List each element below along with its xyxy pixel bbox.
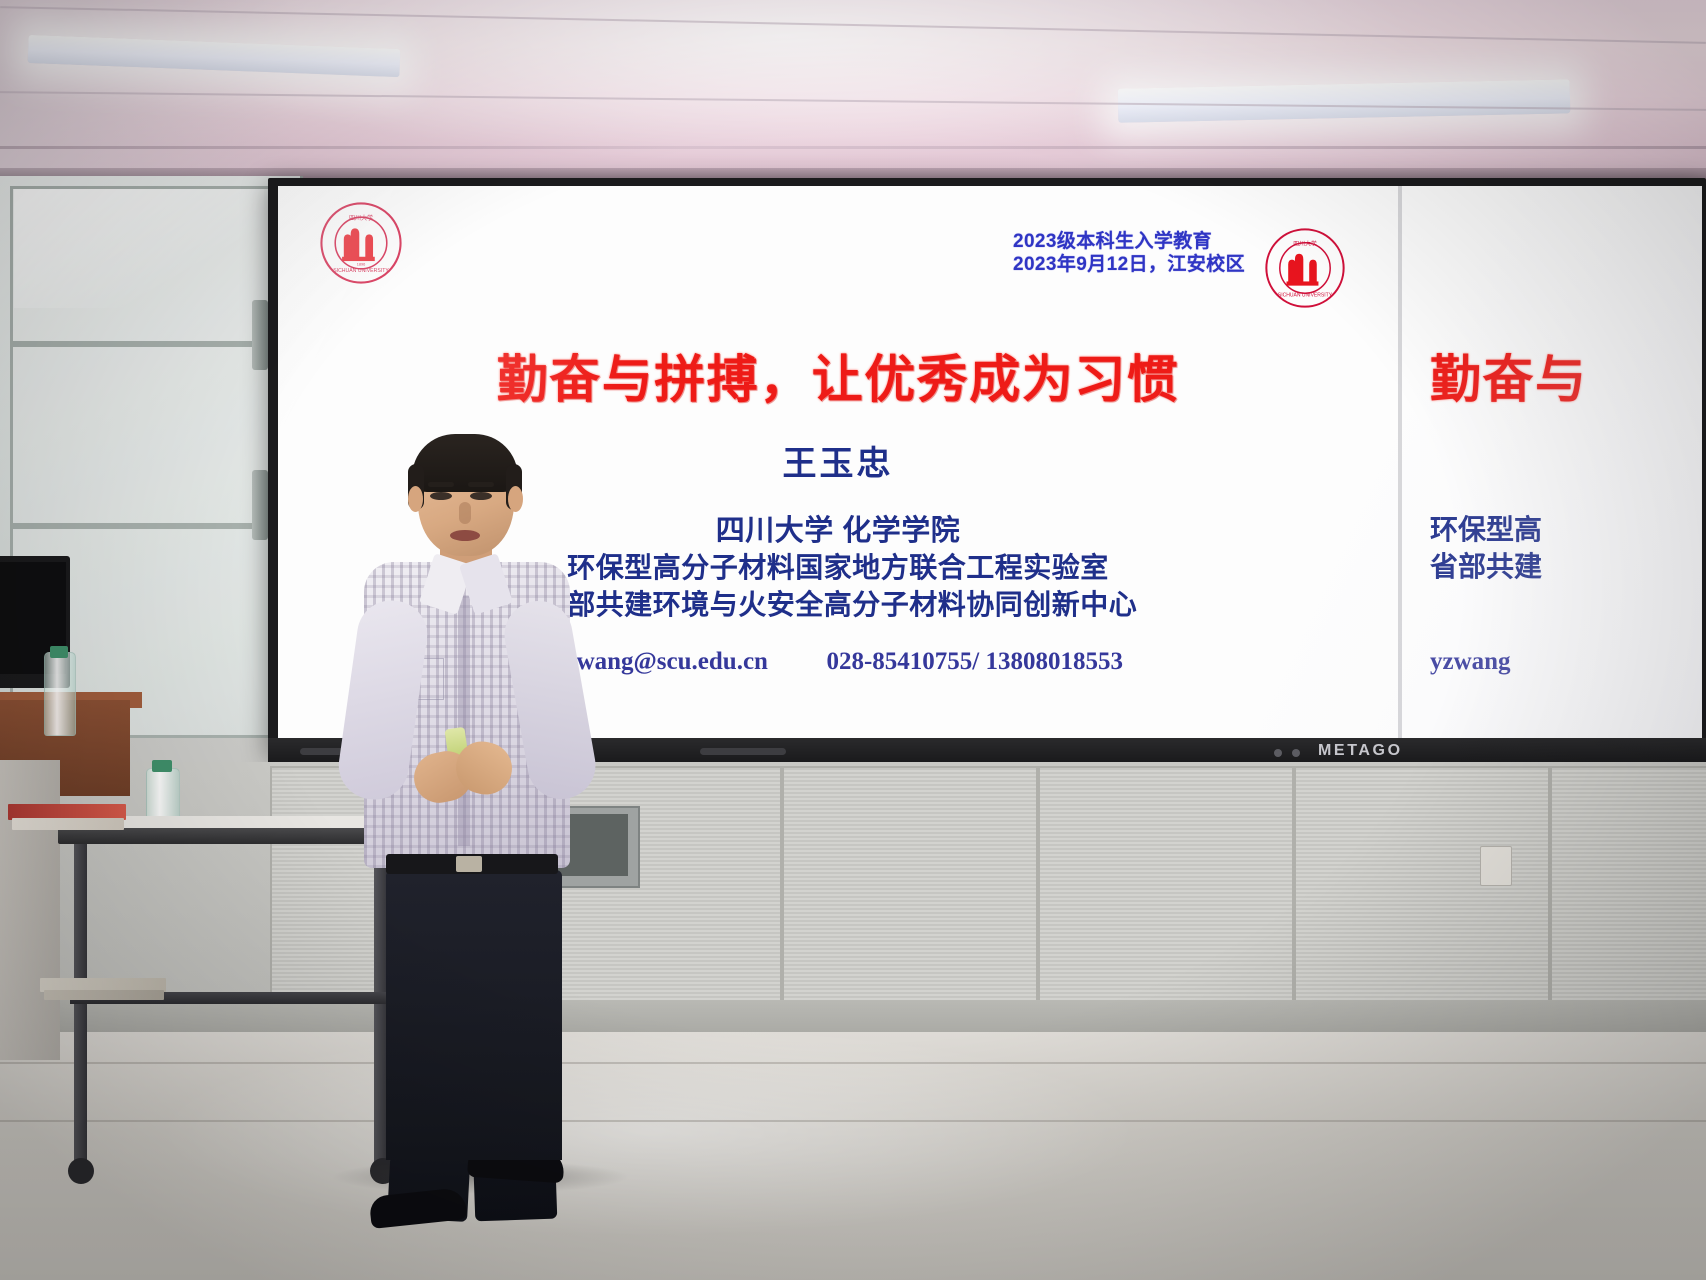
speaker-ear-left <box>408 486 423 512</box>
left-panel-frame-2 <box>10 344 274 526</box>
speaker-person <box>340 430 600 1190</box>
bottle-cap-1 <box>50 646 68 658</box>
book-stack-bottom <box>12 818 124 830</box>
speaker-brow-right <box>468 482 494 487</box>
speaker-belt-buckle <box>456 856 482 872</box>
speaker-nose <box>459 502 471 524</box>
slide-secondary-affiliation: 环保型高 省部共建 <box>1430 512 1702 586</box>
lecture-hall-photo: 四川大学 SICHUAN UNIVERSITY 1896 2023级本科生入学教… <box>0 0 1706 1280</box>
floor-seam-1 <box>0 1120 1706 1122</box>
slide-header: 2023级本科生入学教育 2023年9月12日，江安校区 <box>1013 230 1245 276</box>
power-socket[interactable] <box>1480 846 1512 886</box>
svg-text:四川大学: 四川大学 <box>349 214 373 222</box>
panel-hinge-2 <box>252 470 268 540</box>
speaker-trousers <box>386 870 562 1160</box>
display-brand-label: METAGO <box>1318 742 1403 760</box>
slide-secondary-title: 勤奋与 <box>1430 338 1702 412</box>
contact-phone: 028-85410755/ 13808018553 <box>826 648 1123 675</box>
wall-skirting <box>0 1000 1706 1036</box>
display-vent-2 <box>700 748 786 755</box>
floor-reflection <box>0 1032 1706 1280</box>
sichuan-university-logo-header: 四川大学 SICHUAN UNIVERSITY <box>1263 226 1347 310</box>
speaker-brow-left <box>428 482 454 487</box>
ir-sensor-2 <box>1292 749 1300 757</box>
sichuan-university-logo: 四川大学 SICHUAN UNIVERSITY 1896 <box>318 200 404 286</box>
slide-title: 勤奋与拼搏，让优秀成为习惯 <box>278 338 1398 412</box>
slide-secondary: 勤奋与 环保型高 省部共建 yzwang <box>1430 186 1702 738</box>
shelf-book-2 <box>44 990 164 1000</box>
cart-caster-left <box>68 1158 94 1184</box>
svg-text:四川大学: 四川大学 <box>1293 239 1317 247</box>
ir-sensor-1 <box>1274 749 1282 757</box>
wall-grille-4 <box>1038 766 1294 1002</box>
svg-text:SICHUAN UNIVERSITY: SICHUAN UNIVERSITY <box>1278 293 1333 299</box>
speaker-ear-right <box>508 486 523 512</box>
left-panel-frame-1 <box>10 186 274 344</box>
bottle-cap-2 <box>152 760 172 772</box>
cart-leg-left <box>74 844 87 1166</box>
svg-text:1896: 1896 <box>357 261 366 266</box>
secondary-affil-line-1: 环保型高 <box>1430 512 1702 549</box>
wall-grille-6 <box>1550 766 1706 1002</box>
slide-header-line1: 2023级本科生入学教育 <box>1013 230 1245 253</box>
speaker-mouth <box>450 530 480 541</box>
speaker-shirt-placket <box>458 596 470 846</box>
svg-text:SICHUAN UNIVERSITY: SICHUAN UNIVERSITY <box>333 268 389 274</box>
ceiling-trim <box>0 146 1706 149</box>
slide-secondary-contact: yzwang <box>1430 648 1702 676</box>
wall-grille-3 <box>782 766 1038 1002</box>
speaker-eye-left <box>430 492 452 500</box>
water-bottle-1 <box>44 652 76 736</box>
screen-panel-seam <box>1398 186 1402 738</box>
floor-seam-2 <box>0 1062 1706 1064</box>
panel-hinge-1 <box>252 300 268 370</box>
secondary-affil-line-2: 省部共建 <box>1430 549 1702 586</box>
slide-header-line2: 2023年9月12日，江安校区 <box>1013 253 1245 276</box>
speaker-eye-right <box>470 492 492 500</box>
